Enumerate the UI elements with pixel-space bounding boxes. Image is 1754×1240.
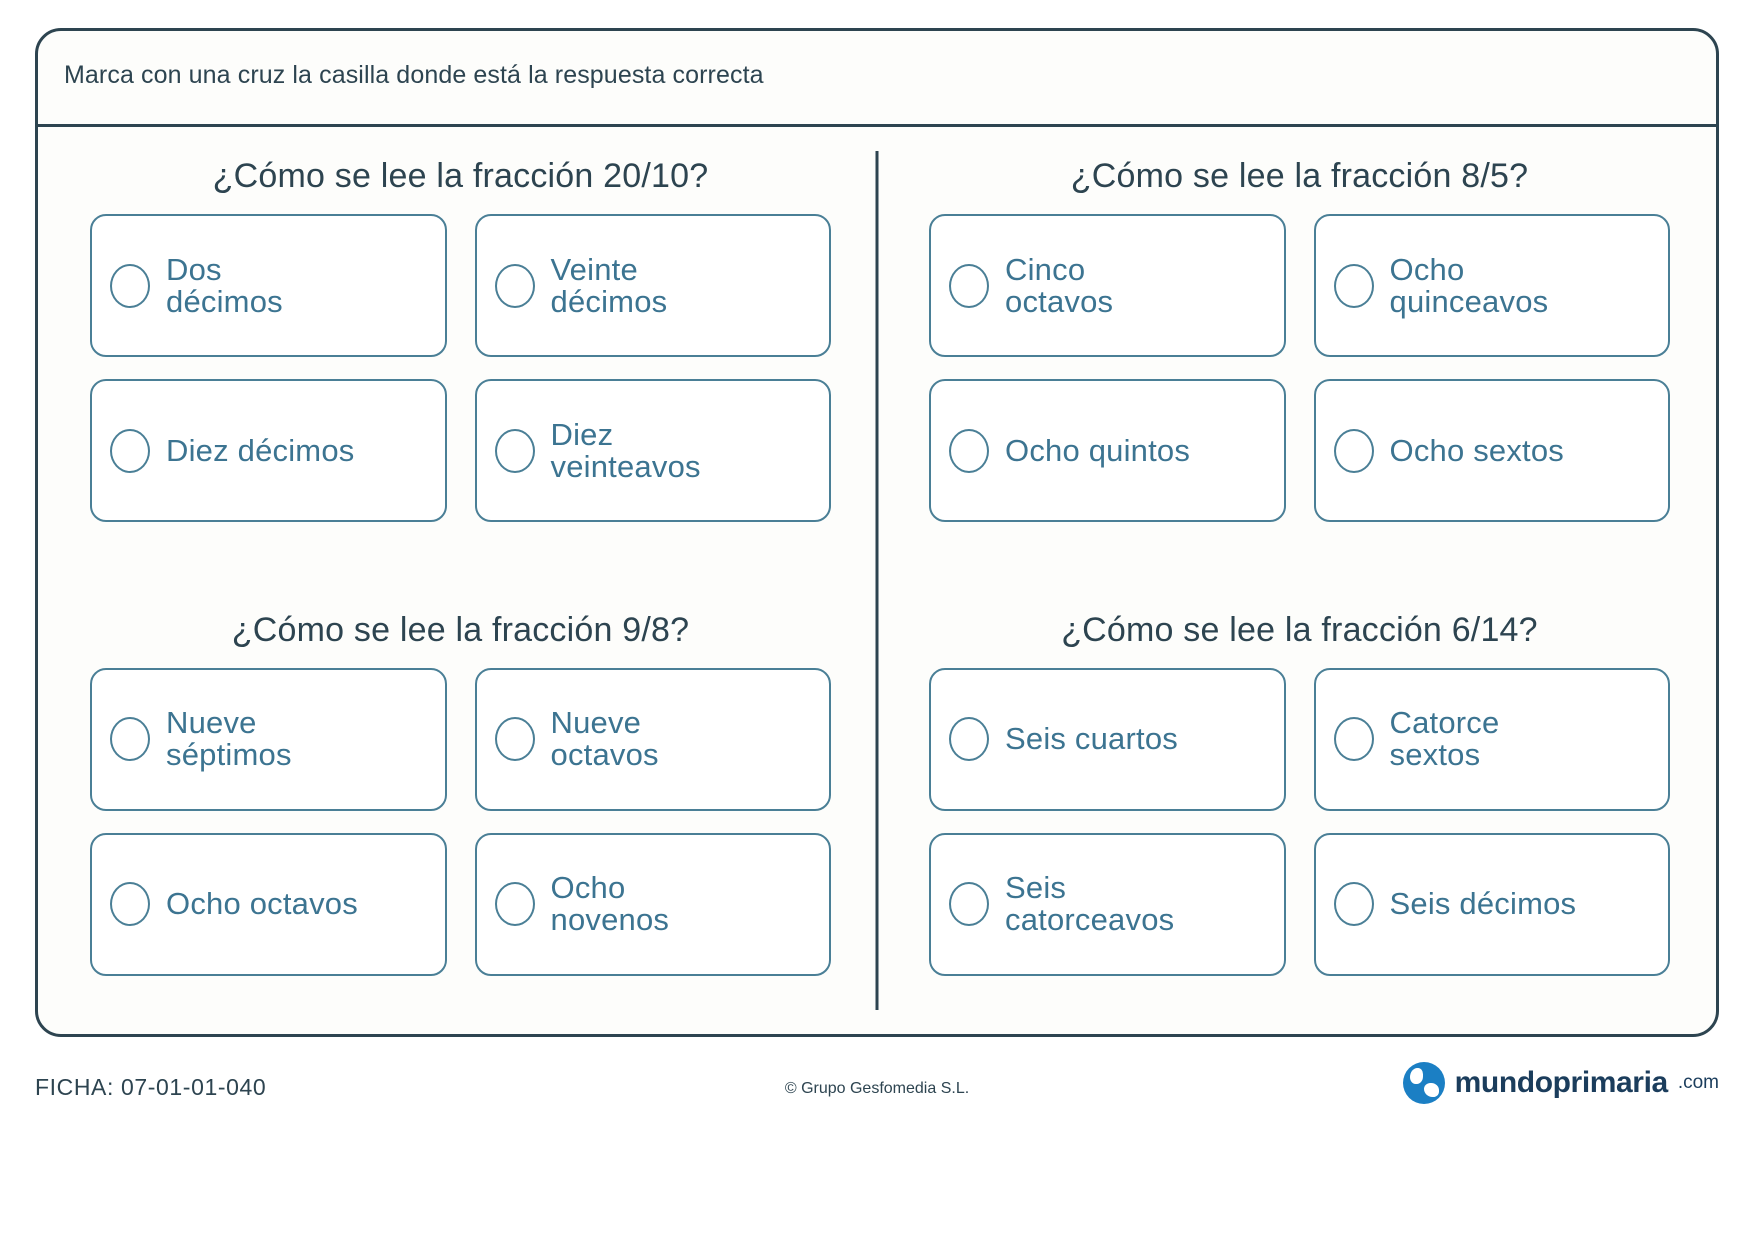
copyright-text: © Grupo Gesfomedia S.L. [785,1080,969,1098]
radio-circle-icon[interactable] [110,264,150,308]
option-2-3[interactable]: Ocho quintos [929,379,1286,522]
option-4-4[interactable]: Seis décimos [1314,833,1671,976]
radio-circle-icon[interactable] [949,264,989,308]
option-label: Diez veinteavos [551,419,701,482]
option-label: Cinco octavos [1005,254,1113,317]
option-label: Veinte décimos [551,254,668,317]
option-label: Ocho octavos [166,888,358,920]
option-2-4[interactable]: Ocho sextos [1314,379,1671,522]
option-3-1[interactable]: Nueve séptimos [90,668,447,811]
option-1-3[interactable]: Diez décimos [90,379,447,522]
brand-logo: mundoprimaria .com [1403,1062,1719,1104]
option-2-1[interactable]: Cinco octavos [929,214,1286,357]
question-title-4: ¿Cómo se lee la fracción 6/14? [929,611,1670,650]
option-3-3[interactable]: Ocho octavos [90,833,447,976]
page-footer: FICHA: 07-01-01-040 © Grupo Gesfomedia S… [35,1060,1719,1130]
option-label: Nueve octavos [551,707,659,770]
radio-circle-icon[interactable] [110,882,150,926]
radio-circle-icon[interactable] [1334,429,1374,473]
questions-grid: ¿Cómo se lee la fracción 20/10? Dos déci… [38,127,1716,1034]
options-group-2: Cinco octavos Ocho quinceavos Ocho quint… [929,214,1670,522]
option-label: Ocho sextos [1390,435,1565,467]
option-label: Ocho quinceavos [1390,254,1549,317]
option-label: Dos décimos [166,254,283,317]
option-label: Ocho novenos [551,872,670,935]
radio-circle-icon[interactable] [949,429,989,473]
option-4-1[interactable]: Seis cuartos [929,668,1286,811]
radio-circle-icon[interactable] [949,882,989,926]
brand-suffix: .com [1678,1072,1719,1094]
question-block-3: ¿Cómo se lee la fracción 9/8? Nueve sépt… [38,581,877,1035]
option-label: Catorce sextos [1390,707,1500,770]
options-group-1: Dos décimos Veinte décimos Diez décimos … [90,214,831,522]
ficha-code: FICHA: 07-01-01-040 [35,1074,266,1101]
option-label: Nueve séptimos [166,707,292,770]
option-4-2[interactable]: Catorce sextos [1314,668,1671,811]
brand-name: mundoprimaria [1455,1066,1668,1100]
instruction-text: Marca con una cruz la casilla donde está… [64,61,764,90]
question-title-1: ¿Cómo se lee la fracción 20/10? [90,157,831,196]
worksheet-frame: Marca con una cruz la casilla donde está… [35,28,1719,1037]
radio-circle-icon[interactable] [495,717,535,761]
option-3-2[interactable]: Nueve octavos [475,668,832,811]
options-group-4: Seis cuartos Catorce sextos Seis catorce… [929,668,1670,976]
option-1-1[interactable]: Dos décimos [90,214,447,357]
radio-circle-icon[interactable] [1334,882,1374,926]
option-label: Seis cuartos [1005,723,1178,755]
radio-circle-icon[interactable] [495,429,535,473]
radio-circle-icon[interactable] [495,264,535,308]
worksheet-page: Marca con una cruz la casilla donde está… [0,0,1754,1240]
question-block-1: ¿Cómo se lee la fracción 20/10? Dos déci… [38,127,877,581]
globe-icon [1403,1062,1445,1104]
option-label: Seis décimos [1390,888,1577,920]
option-2-2[interactable]: Ocho quinceavos [1314,214,1671,357]
option-1-2[interactable]: Veinte décimos [475,214,832,357]
option-1-4[interactable]: Diez veinteavos [475,379,832,522]
radio-circle-icon[interactable] [949,717,989,761]
question-block-4: ¿Cómo se lee la fracción 6/14? Seis cuar… [877,581,1716,1035]
radio-circle-icon[interactable] [495,882,535,926]
options-group-3: Nueve séptimos Nueve octavos Ocho octavo… [90,668,831,976]
question-block-2: ¿Cómo se lee la fracción 8/5? Cinco octa… [877,127,1716,581]
question-title-2: ¿Cómo se lee la fracción 8/5? [929,157,1670,196]
question-title-3: ¿Cómo se lee la fracción 9/8? [90,611,831,650]
option-label: Ocho quintos [1005,435,1190,467]
option-label: Diez décimos [166,435,354,467]
radio-circle-icon[interactable] [1334,264,1374,308]
option-3-4[interactable]: Ocho novenos [475,833,832,976]
radio-circle-icon[interactable] [1334,717,1374,761]
option-label: Seis catorceavos [1005,872,1174,935]
radio-circle-icon[interactable] [110,429,150,473]
option-4-3[interactable]: Seis catorceavos [929,833,1286,976]
instruction-bar: Marca con una cruz la casilla donde está… [38,31,1716,127]
radio-circle-icon[interactable] [110,717,150,761]
